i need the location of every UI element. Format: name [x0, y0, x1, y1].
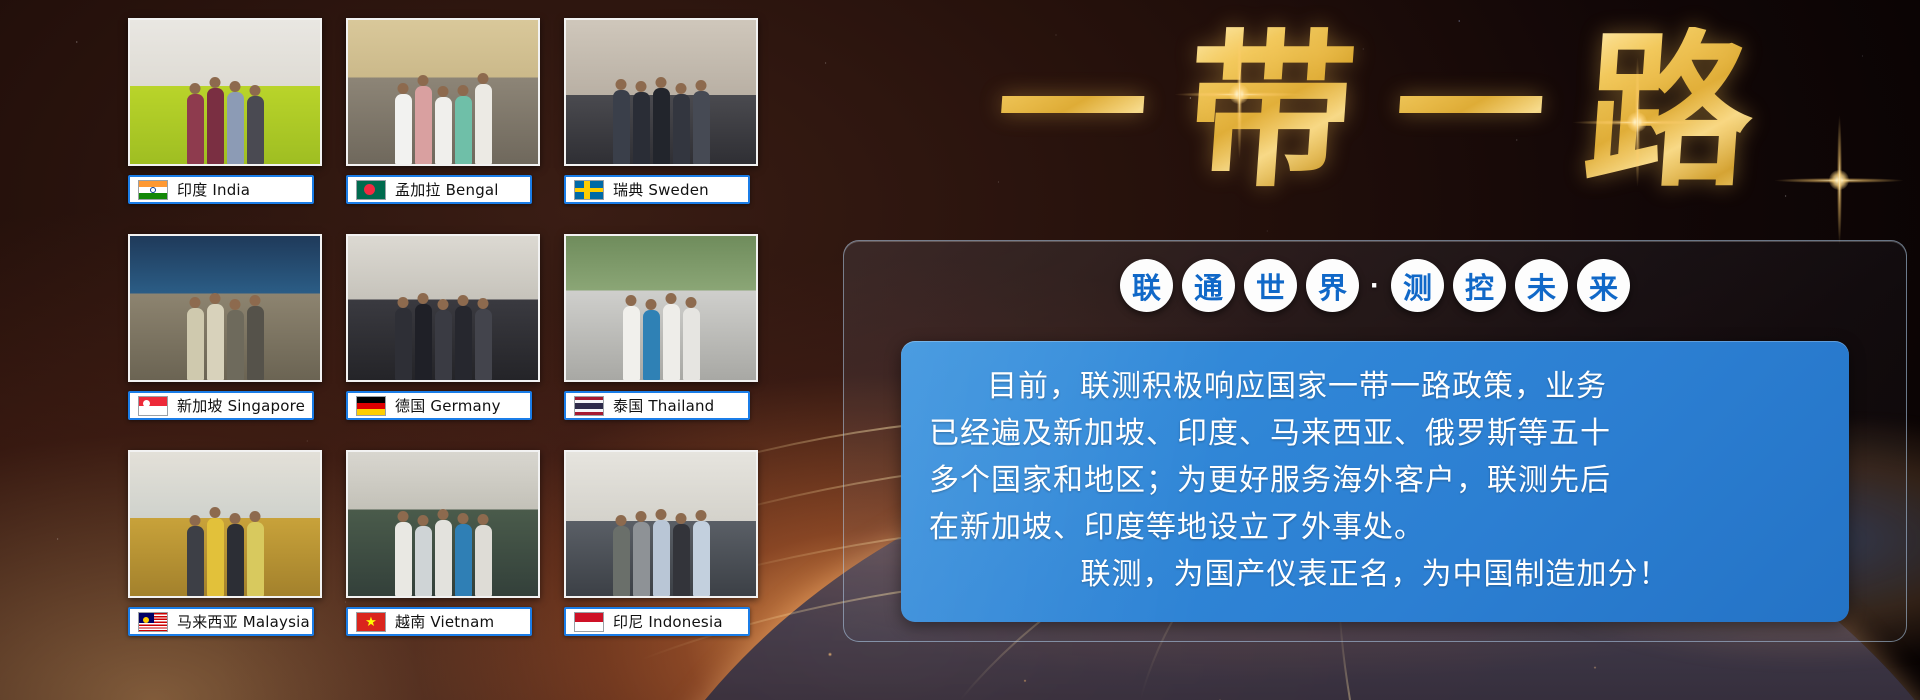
photo-thumbnail[interactable]	[128, 18, 322, 166]
photo-thumbnail[interactable]	[128, 450, 322, 598]
country-label-text: 越南 Vietnam	[395, 611, 494, 632]
country-label-text: 印尼 Indonesia	[613, 611, 723, 632]
country-label-text: 孟加拉 Bengal	[395, 179, 499, 200]
country-label[interactable]: 印尼 Indonesia	[564, 607, 750, 636]
description-line: 在新加坡、印度等地设立了外事处。	[929, 504, 1821, 551]
photo-thumbnail[interactable]	[346, 234, 540, 382]
country-label[interactable]: 瑞典 Sweden	[564, 175, 750, 204]
photo-card[interactable]: 新加坡 Singapore	[128, 234, 322, 442]
country-label[interactable]: 新加坡 Singapore	[128, 391, 314, 420]
slogan-char: 控	[1453, 259, 1506, 312]
photo-thumbnail[interactable]	[346, 450, 540, 598]
country-label[interactable]: 越南 Vietnam	[346, 607, 532, 636]
photo-thumbnail[interactable]	[564, 450, 758, 598]
country-label[interactable]: 泰国 Thailand	[564, 391, 750, 420]
country-label-text: 新加坡 Singapore	[177, 395, 305, 416]
photo-thumbnail[interactable]	[564, 18, 758, 166]
flag-singapore-icon	[138, 396, 168, 416]
slogan-char: 界	[1306, 259, 1359, 312]
photo-card[interactable]: 印尼 Indonesia	[564, 450, 758, 658]
photo-card[interactable]: 马来西亚 Malaysia	[128, 450, 322, 658]
slogan-char: 测	[1391, 259, 1444, 312]
flag-sweden-icon	[574, 180, 604, 200]
slogan-char: 未	[1515, 259, 1568, 312]
country-label[interactable]: 印度 India	[128, 175, 314, 204]
photo-thumbnail[interactable]	[564, 234, 758, 382]
calligraphy-title: 一 带 一 路	[845, 6, 1905, 216]
calligraphy-char: 一	[992, 36, 1153, 186]
content-frame: 联 通 世 界 · 测 控 未 来 目前，联测积极响应国家一带一路政策，业务 已…	[843, 240, 1907, 642]
country-label-text: 泰国 Thailand	[613, 395, 714, 416]
flag-indonesia-icon	[574, 612, 604, 632]
flag-bangladesh-icon	[356, 180, 386, 200]
flag-india-icon	[138, 180, 168, 200]
calligraphy-char: 一	[1390, 36, 1551, 186]
description-panel: 目前，联测积极响应国家一带一路政策，业务 已经遍及新加坡、印度、马来西亚、俄罗斯…	[901, 341, 1849, 622]
country-label-text: 印度 India	[177, 179, 250, 200]
photo-card[interactable]: 印度 India	[128, 18, 322, 226]
flag-vietnam-icon	[356, 612, 386, 632]
slogan-char: 世	[1244, 259, 1297, 312]
description-line: 已经遍及新加坡、印度、马来西亚、俄罗斯等五十	[929, 410, 1821, 457]
sparkle-icon	[1775, 116, 1903, 244]
flag-malaysia-icon	[138, 612, 168, 632]
photo-thumbnail[interactable]	[128, 234, 322, 382]
slogan-char: 联	[1120, 259, 1173, 312]
photo-card[interactable]: 瑞典 Sweden	[564, 18, 758, 226]
description-line: 联测，为国产仪表正名，为中国制造加分！	[929, 551, 1821, 598]
country-label[interactable]: 德国 Germany	[346, 391, 532, 420]
calligraphy-char: 路	[1579, 27, 1759, 195]
slogan-char: 通	[1182, 259, 1235, 312]
flag-thailand-icon	[574, 396, 604, 416]
calligraphy-char: 带	[1181, 27, 1361, 195]
country-label-text: 瑞典 Sweden	[613, 179, 709, 200]
country-label-text: 马来西亚 Malaysia	[177, 611, 310, 632]
slogan-row: 联 通 世 界 · 测 控 未 来	[844, 259, 1906, 312]
right-content-panel: 一 带 一 路 联 通 世 界 · 测 控 未 来 目前，联测积极响应国家一带一…	[835, 0, 1920, 700]
country-photo-grid: 印度 India 孟加拉 Bengal 瑞典 Sweden	[128, 18, 758, 658]
description-line: 多个国家和地区；为更好服务海外客户，联测先后	[929, 457, 1821, 504]
slogan-char: 来	[1577, 259, 1630, 312]
slogan-separator: ·	[1368, 269, 1382, 303]
country-label-text: 德国 Germany	[395, 395, 501, 416]
photo-card[interactable]: 越南 Vietnam	[346, 450, 540, 658]
country-label[interactable]: 孟加拉 Bengal	[346, 175, 532, 204]
photo-thumbnail[interactable]	[346, 18, 540, 166]
photo-card[interactable]: 德国 Germany	[346, 234, 540, 442]
description-line: 目前，联测积极响应国家一带一路政策，业务	[929, 363, 1821, 410]
photo-card[interactable]: 泰国 Thailand	[564, 234, 758, 442]
belt-and-road-banner: 印度 India 孟加拉 Bengal 瑞典 Sweden	[0, 0, 1920, 700]
flag-germany-icon	[356, 396, 386, 416]
country-label[interactable]: 马来西亚 Malaysia	[128, 607, 314, 636]
photo-card[interactable]: 孟加拉 Bengal	[346, 18, 540, 226]
